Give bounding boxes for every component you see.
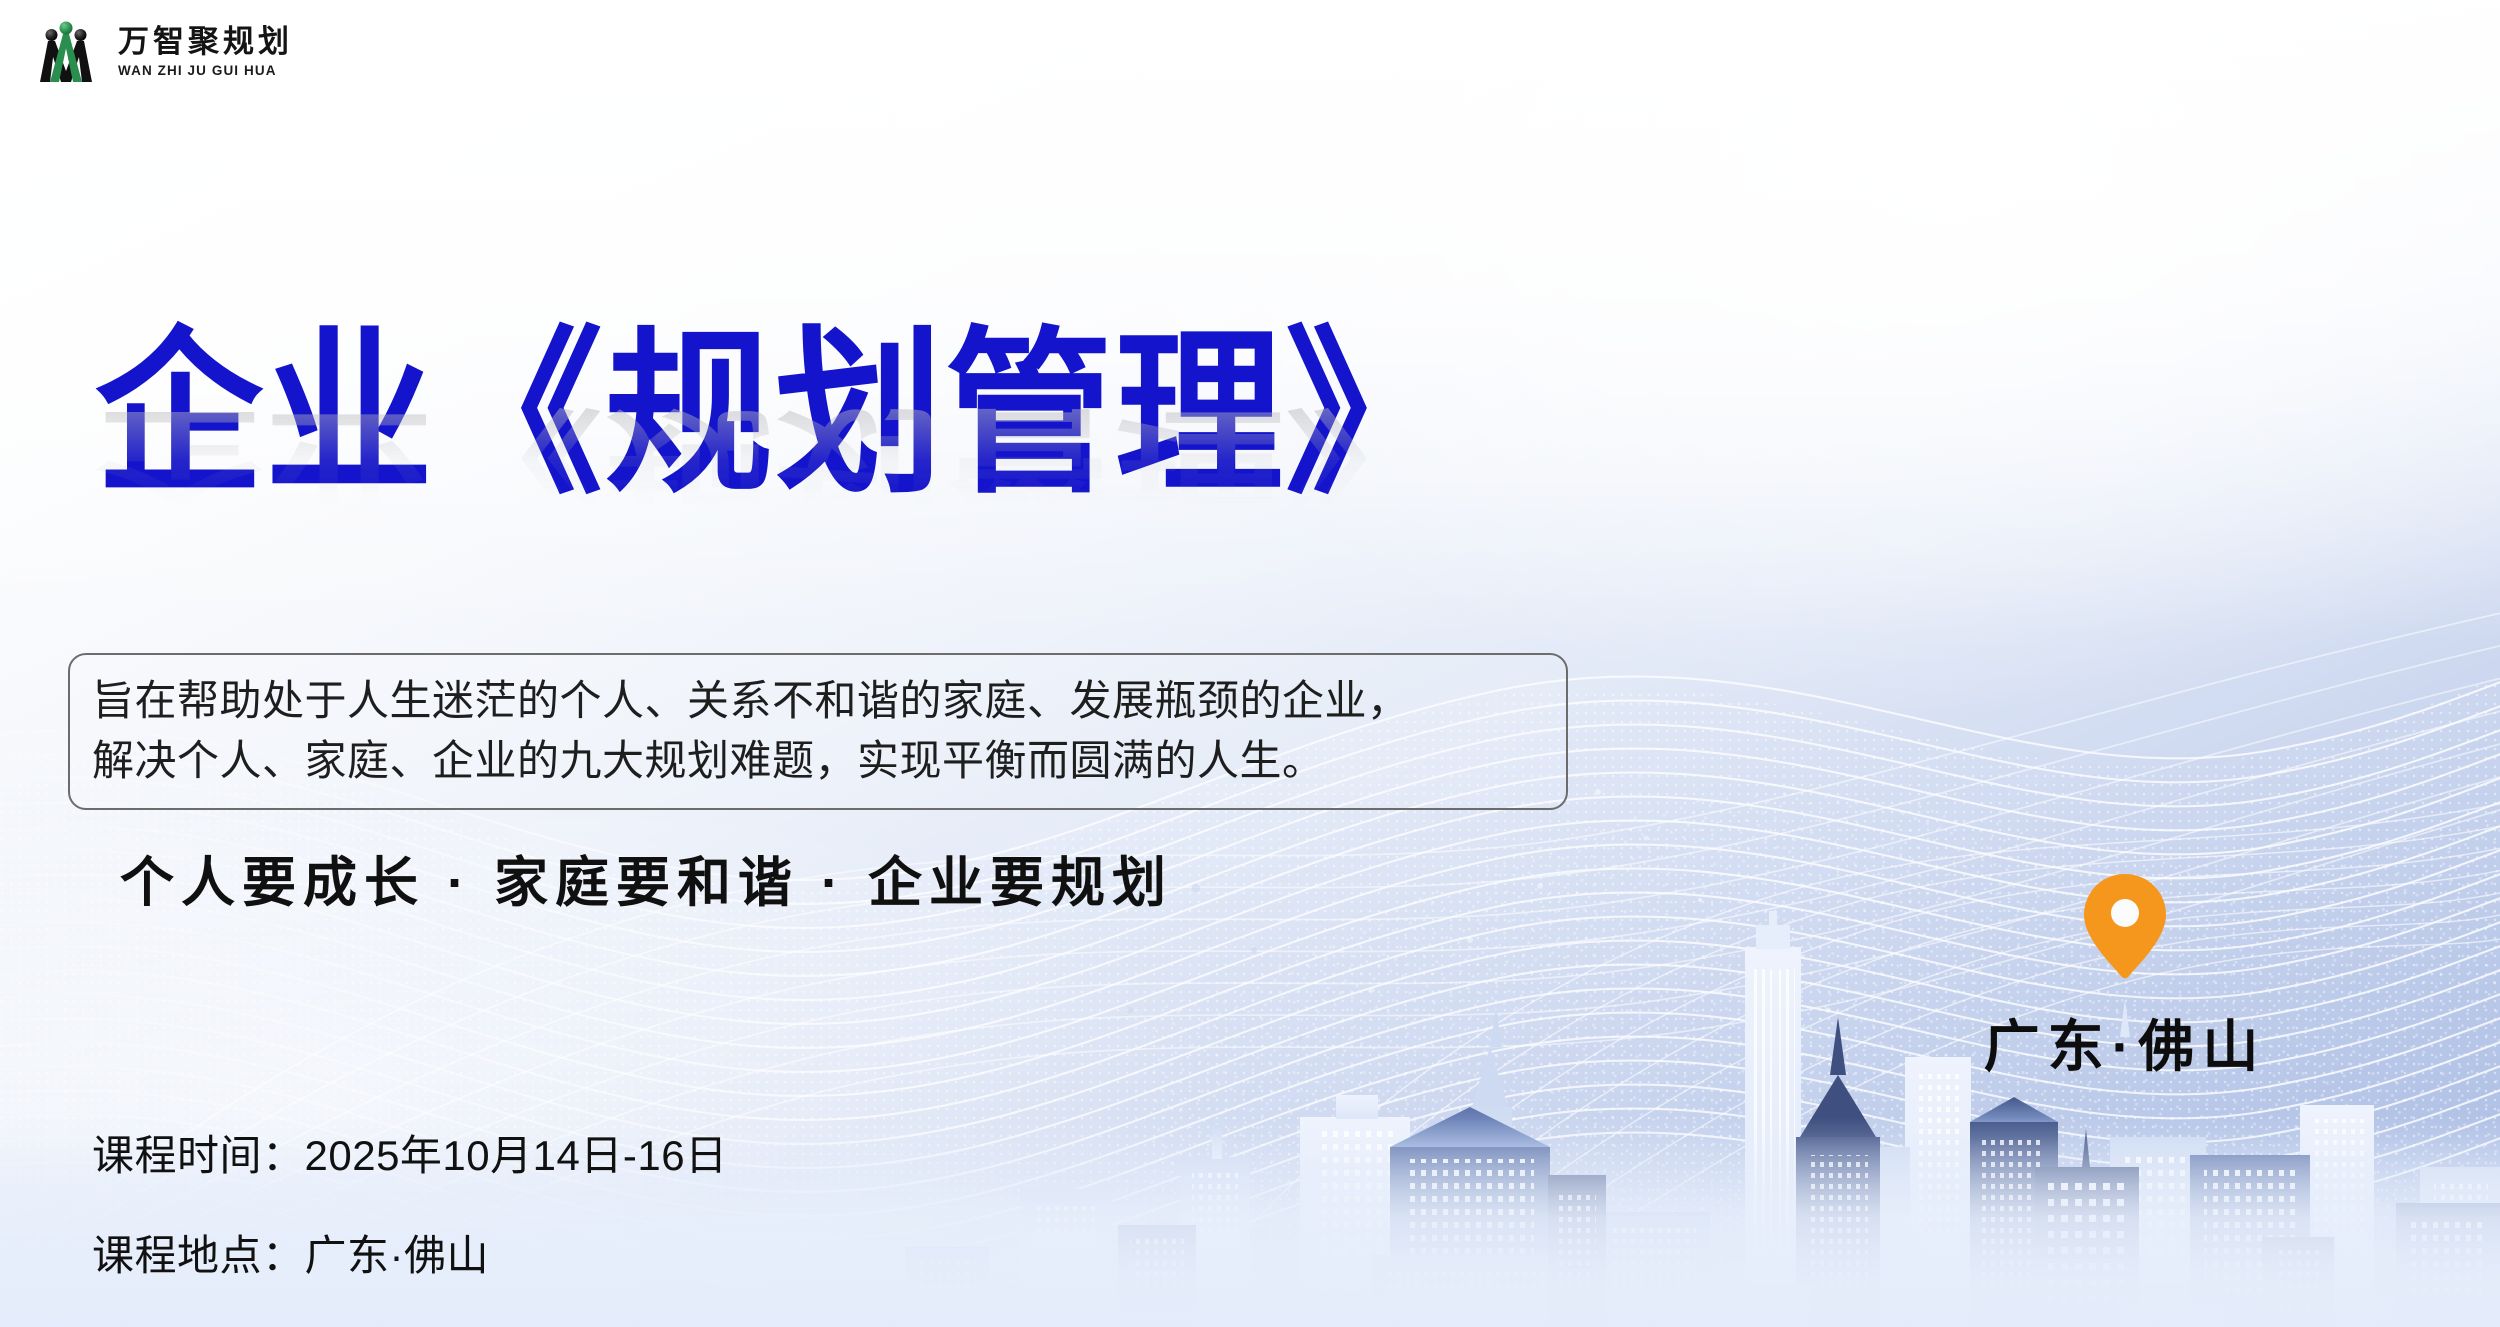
description-line-2: 解决个人、家庭、企业的九大规划难题，实现平衡而圆满的人生。 (92, 731, 1544, 791)
brand-name-cn: 万智聚规划 (118, 26, 293, 57)
tagline: 个人要成长 · 家庭要和谐 · 企业要规划 (120, 838, 1173, 917)
brand-logo-text: 万智聚规划 WAN ZHI JU GUI HUA (118, 24, 293, 78)
location-name: 广东·佛山 (1984, 1002, 2267, 1083)
poster-canvas: 万智聚规划 WAN ZHI JU GUI HUA 企业《规划管理》 企业《规划管… (0, 0, 2500, 1327)
three-people-logo-icon (28, 16, 104, 86)
location-block: 广东·佛山 (1955, 872, 2295, 1083)
course-info-block: 课程时间：2025年10月14日-16日 课程地点：广东·佛山 (92, 1135, 728, 1277)
page-title-reflection: 企业《规划管理》 (95, 403, 1455, 507)
map-pin-icon (2081, 872, 2169, 980)
course-place-row: 课程地点：广东·佛山 (92, 1235, 728, 1277)
main-title-block: 企业《规划管理》 企业《规划管理》 (95, 325, 1455, 493)
description-box: 旨在帮助处于人生迷茫的个人、关系不和谐的家庭、发展瓶颈的企业， 解决个人、家庭、… (68, 653, 1568, 810)
course-time-row: 课程时间：2025年10月14日-16日 (92, 1135, 728, 1177)
brand-name-en: WAN ZHI JU GUI HUA (118, 64, 293, 78)
brand-logo: 万智聚规划 WAN ZHI JU GUI HUA (28, 16, 293, 86)
description-line-1: 旨在帮助处于人生迷茫的个人、关系不和谐的家庭、发展瓶颈的企业， (92, 671, 1544, 731)
